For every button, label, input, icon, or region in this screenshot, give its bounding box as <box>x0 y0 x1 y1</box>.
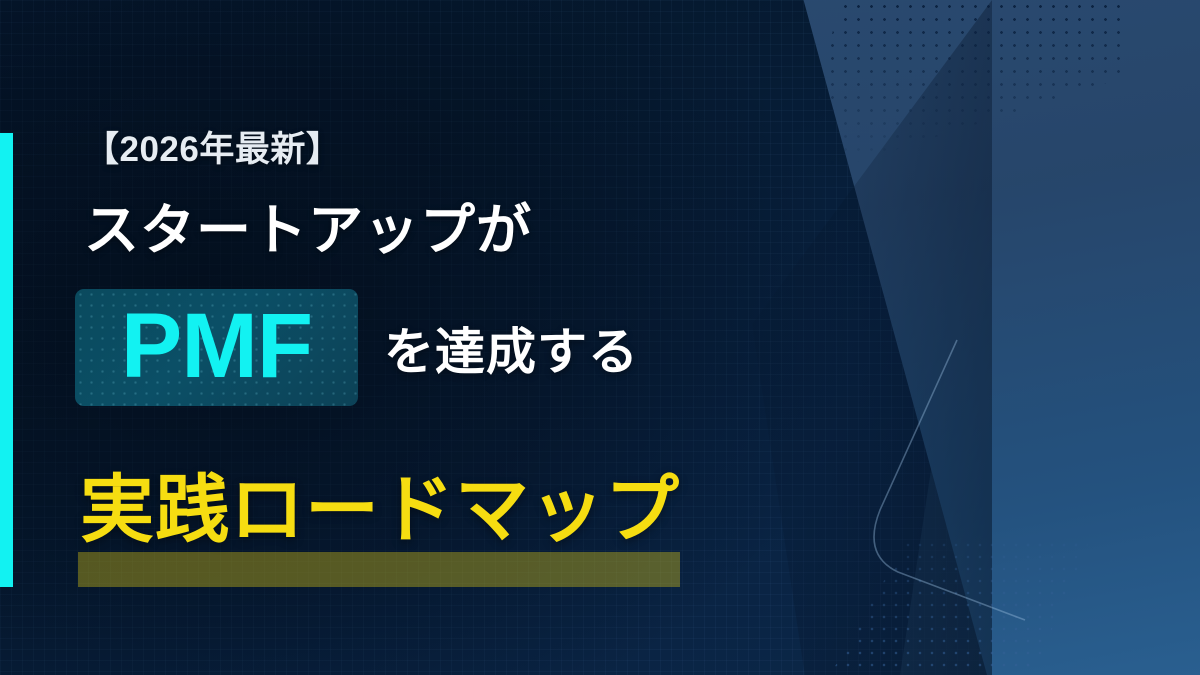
headline-line-one: スタートアップが <box>84 185 532 265</box>
pmf-badge-label: PMF <box>121 300 312 392</box>
pmf-badge: PMF <box>75 289 358 406</box>
headline-line-two: PMF を達成する <box>75 289 639 406</box>
headline-highlight-bar <box>78 552 680 587</box>
thumbnail-canvas: 【2026年最新】 スタートアップが PMF を達成する 実践ロードマップ <box>0 0 1200 675</box>
headline-line-three-label: 実践ロードマップ <box>80 468 680 551</box>
headline-content: 【2026年最新】 スタートアップが PMF を達成する 実践ロードマップ <box>0 0 820 675</box>
headline-line-three: 実践ロードマップ <box>80 473 680 547</box>
diagonal-blue-panel <box>782 0 1200 675</box>
headline-line-two-suffix: を達成する <box>384 312 639 384</box>
eyebrow-label: 【2026年最新】 <box>84 121 341 172</box>
